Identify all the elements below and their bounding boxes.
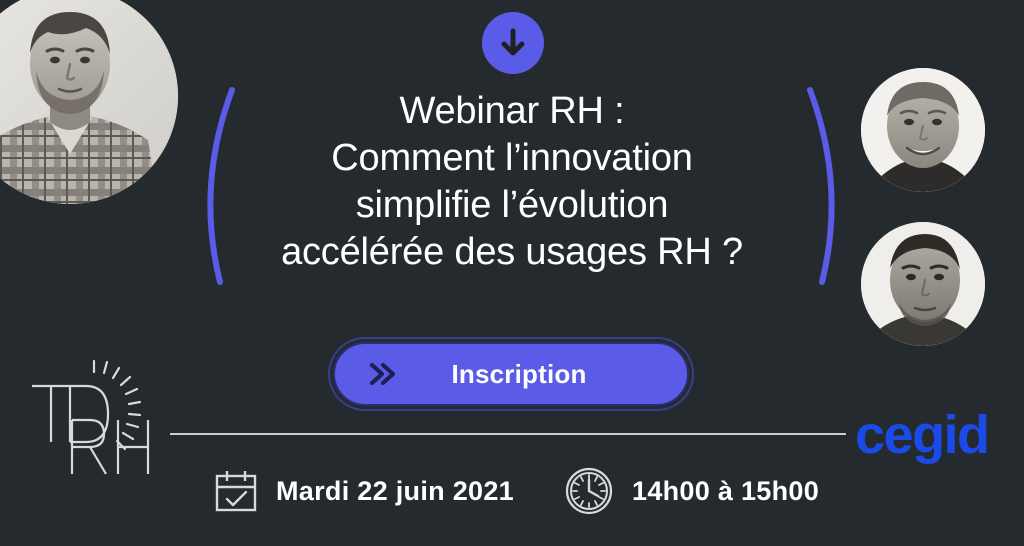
speaker-photo-2 bbox=[861, 68, 985, 192]
event-time: 14h00 à 15h00 bbox=[564, 466, 819, 516]
footer-divider bbox=[170, 433, 846, 435]
cegid-logo: cegid bbox=[855, 404, 1005, 466]
arrow-down-icon bbox=[496, 26, 530, 60]
double-chevron-right-icon bbox=[365, 357, 399, 391]
title-line-4: accélérée des usages RH ? bbox=[232, 229, 792, 276]
right-parenthesis-icon bbox=[796, 86, 856, 286]
event-date: Mardi 22 juin 2021 bbox=[214, 468, 514, 514]
calendar-check-icon bbox=[214, 468, 258, 514]
speaker-photo-3 bbox=[861, 222, 985, 346]
event-meta-row: Mardi 22 juin 2021 bbox=[214, 462, 819, 520]
title-line-1: Webinar RH : bbox=[232, 88, 792, 135]
inscription-button-label: Inscription bbox=[399, 359, 639, 390]
speaker-photo-main-image bbox=[0, 0, 178, 204]
inscription-button[interactable]: Inscription bbox=[333, 342, 689, 406]
speaker-photo-main bbox=[0, 0, 178, 204]
title-line-2: Comment l’innovation bbox=[232, 135, 792, 182]
speaker-photo-3-image bbox=[861, 222, 985, 346]
page-title: Webinar RH : Comment l’innovation simpli… bbox=[232, 88, 792, 276]
clock-icon bbox=[564, 466, 614, 516]
speaker-photo-2-image bbox=[861, 68, 985, 192]
download-badge[interactable] bbox=[482, 12, 544, 74]
tdrh-logo bbox=[14, 358, 174, 480]
event-time-text: 14h00 à 15h00 bbox=[632, 476, 819, 507]
webinar-banner: Webinar RH : Comment l’innovation simpli… bbox=[0, 0, 1024, 546]
event-date-text: Mardi 22 juin 2021 bbox=[276, 476, 514, 507]
title-line-3: simplifie l’évolution bbox=[232, 182, 792, 229]
